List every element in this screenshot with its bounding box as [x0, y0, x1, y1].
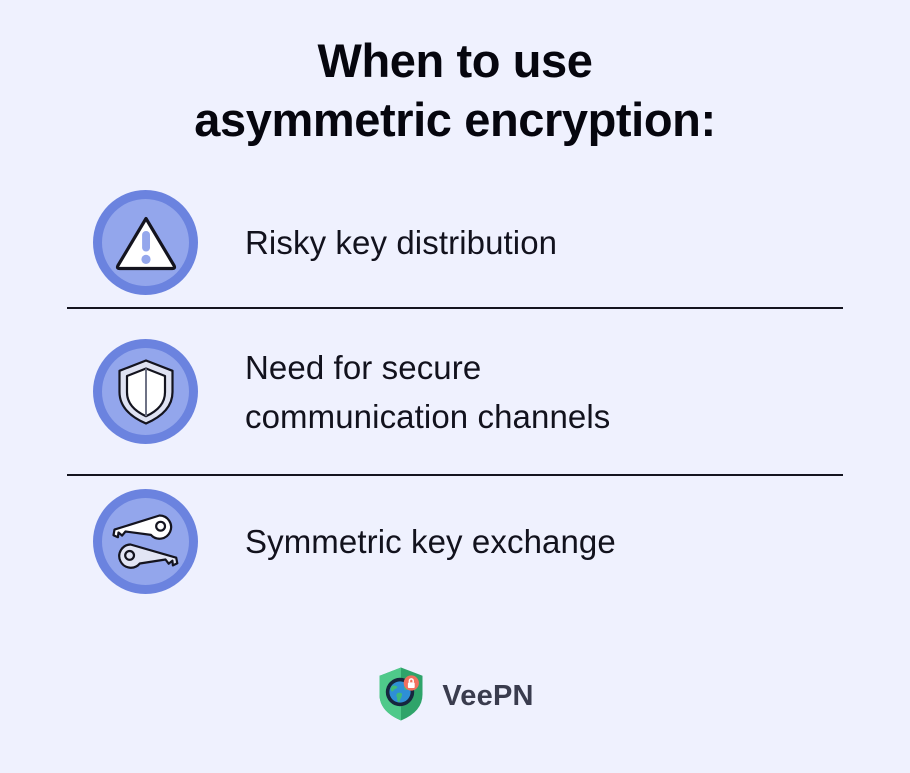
shield-icon	[93, 339, 198, 444]
use-case-list: Risky key distribution Need for secure c…	[0, 177, 910, 606]
page-title: When to use asymmetric encryption:	[0, 0, 910, 149]
warning-triangle-icon	[93, 190, 198, 295]
list-item-label: Risky key distribution	[245, 218, 557, 267]
list-item: Need for secure communication channels	[0, 309, 910, 474]
two-keys-icon	[93, 489, 198, 594]
list-item: Symmetric key exchange	[0, 476, 910, 606]
brand-footer: VeePN	[0, 666, 910, 727]
list-item-label: Need for secure communication channels	[245, 343, 610, 441]
list-item-line-1: Need for secure	[245, 343, 610, 392]
title-line-2: asymmetric encryption:	[0, 90, 910, 149]
list-item-line-1: Risky key distribution	[245, 218, 557, 267]
title-line-1: When to use	[0, 31, 910, 90]
list-item-label: Symmetric key exchange	[245, 517, 616, 566]
veepn-logo-icon	[376, 666, 426, 727]
list-item-line-2: communication channels	[245, 392, 610, 441]
list-item-line-1: Symmetric key exchange	[245, 517, 616, 566]
brand-name: VeePN	[442, 680, 533, 713]
infographic-card: When to use asymmetric encryption: Risky…	[0, 0, 910, 773]
list-item: Risky key distribution	[0, 177, 910, 307]
